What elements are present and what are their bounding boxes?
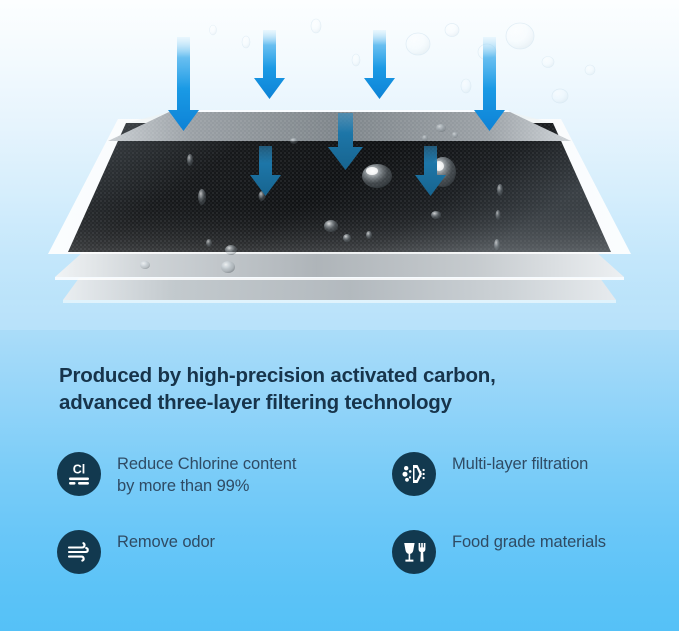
glass-fork-icon-glyph — [400, 538, 428, 566]
feature-label-line-1: Multi-layer filtration — [452, 455, 588, 473]
feature-food-grade-materials: Food grade materials — [392, 528, 657, 574]
feature-label-reduce-chlorine: Reduce Chlorine content by more than 99% — [117, 450, 296, 497]
page-title: Produced by high-precision activated car… — [59, 362, 639, 416]
feature-label-line-1: Remove odor — [117, 533, 215, 551]
filter-diagram-hero — [0, 0, 679, 330]
feature-label-food-grade-materials: Food grade materials — [452, 528, 606, 553]
headline-line-1: Produced by high-precision activated car… — [59, 364, 496, 387]
feature-multi-layer-filtration: Multi-layer filtration — [392, 450, 657, 496]
feature-row-1: Cl Reduce Chlorine content by more than … — [57, 450, 657, 528]
feature-row-2: Remove odor Food grade materials — [57, 528, 657, 606]
feature-list: Cl Reduce Chlorine content by more than … — [57, 450, 657, 606]
headline-line-2: advanced three-layer filtering technolog… — [59, 389, 639, 416]
filtration-icon-glyph — [400, 460, 428, 488]
multi-layer-filtration-icon — [392, 452, 436, 496]
odor-wind-icon — [57, 530, 101, 574]
chlorine-icon: Cl — [57, 452, 101, 496]
svg-text:Cl: Cl — [73, 463, 86, 477]
feature-reduce-chlorine: Cl Reduce Chlorine content by more than … — [57, 450, 392, 497]
bottom-sheet-layer — [63, 278, 616, 303]
filter-layers-illustration — [0, 0, 679, 330]
flow-arrow-3 — [364, 30, 395, 99]
feature-remove-odor: Remove odor — [57, 528, 392, 574]
flow-arrow-2 — [254, 30, 285, 99]
feature-label-line-1: Reduce Chlorine content — [117, 455, 296, 473]
food-grade-glass-fork-icon — [392, 530, 436, 574]
feature-label-line-1: Food grade materials — [452, 533, 606, 551]
feature-label-multi-layer-filtration: Multi-layer filtration — [452, 450, 588, 475]
feature-label-line-2: by more than 99% — [117, 475, 296, 497]
feature-label-remove-odor: Remove odor — [117, 528, 215, 553]
chlorine-icon-glyph: Cl — [65, 460, 93, 488]
wind-icon-glyph — [65, 538, 93, 566]
infographic-page: Produced by high-precision activated car… — [0, 0, 679, 631]
